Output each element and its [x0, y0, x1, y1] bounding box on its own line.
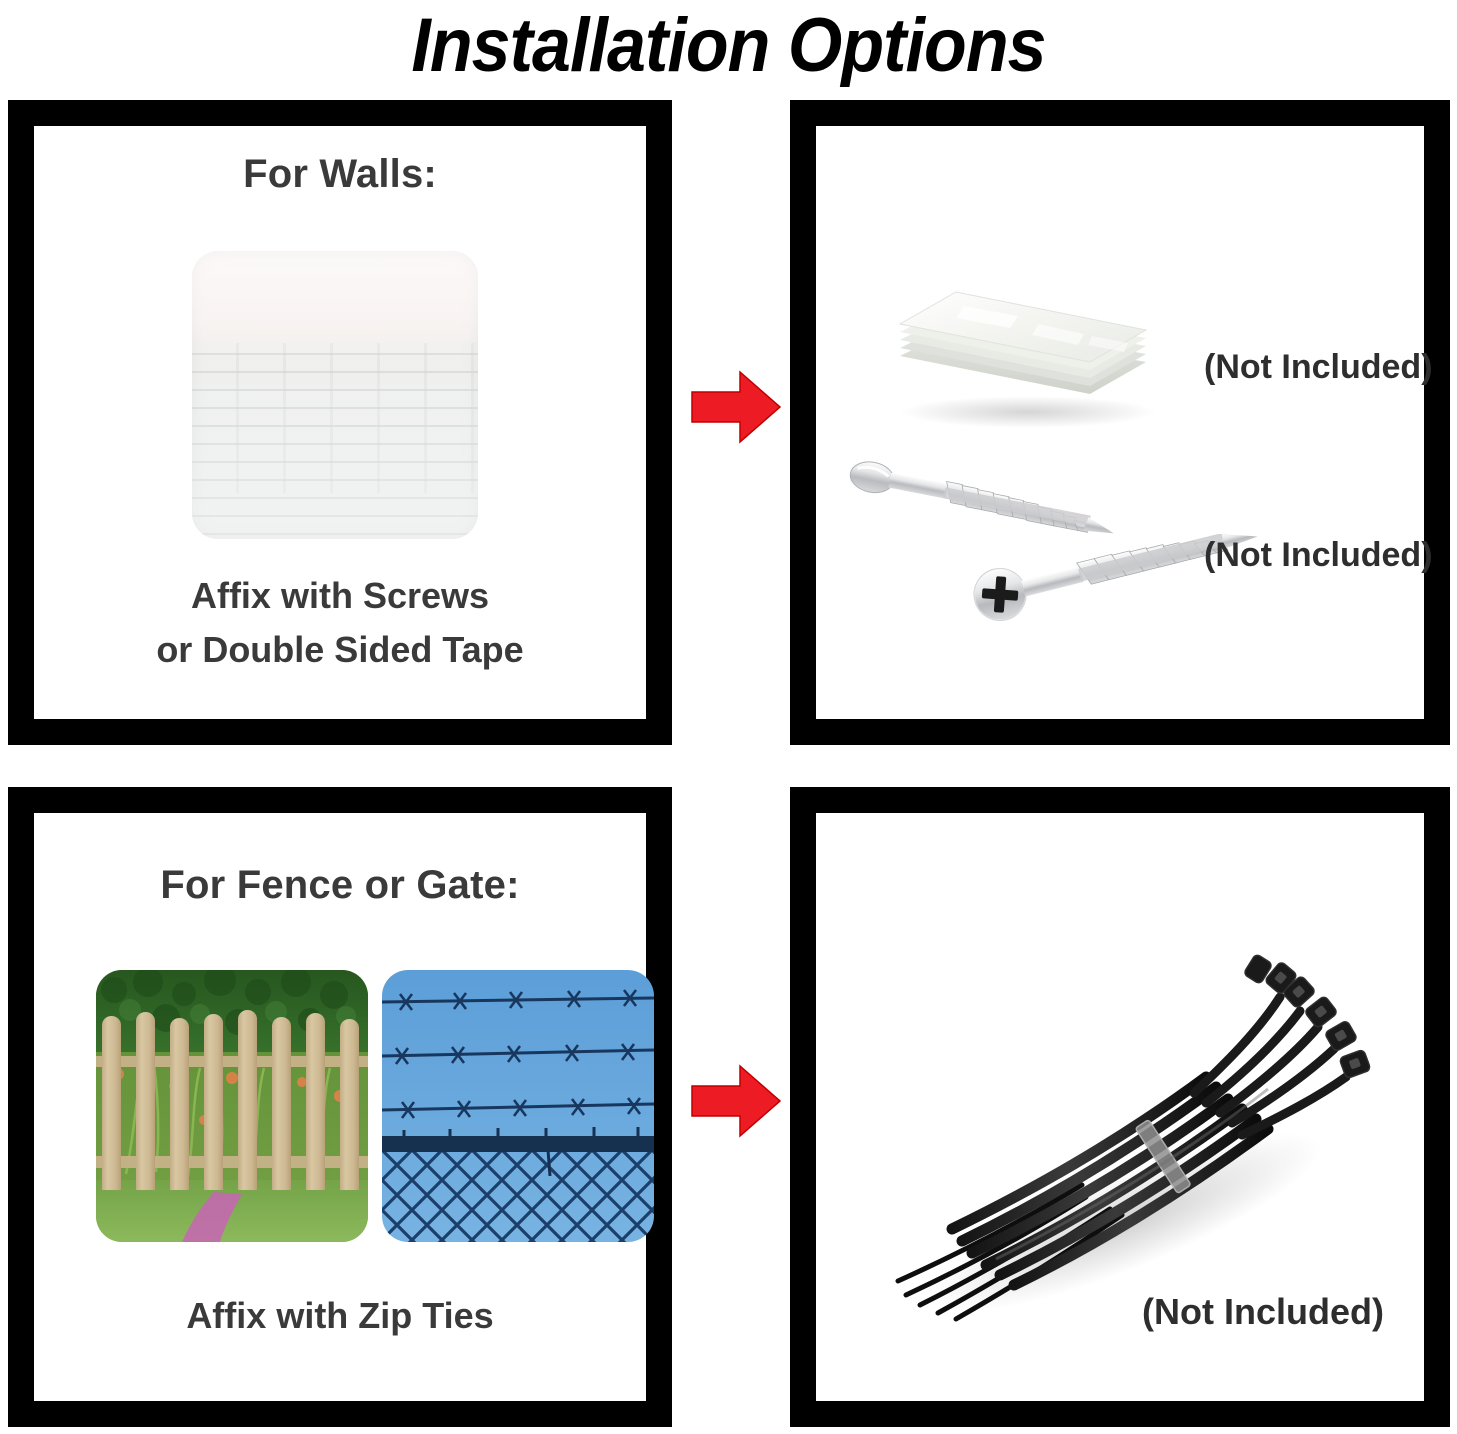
caption-line-1: Affix with Screws [34, 569, 646, 623]
screws-not-included-label: (Not Included) [1204, 536, 1433, 575]
wood-screw-image [846, 456, 1166, 540]
panel-wall-hardware-inner: (Not Included) [816, 126, 1424, 719]
page-title: Installation Options [58, 0, 1398, 94]
right-arrow-icon [690, 368, 782, 446]
chain-link-barbed-wire-fence-image [382, 970, 654, 1242]
panel-zip-ties: (Not Included) [790, 787, 1450, 1427]
heading-for-walls: For Walls: [34, 152, 646, 197]
panel-for-walls: For Walls: Affix with Screws or Double S… [8, 100, 672, 745]
tape-not-included-label: (Not Included) [1204, 348, 1433, 387]
panel-for-walls-inner: For Walls: Affix with Screws or Double S… [34, 126, 646, 719]
panel-wall-hardware: (Not Included) [790, 100, 1450, 745]
right-arrow-icon [690, 1062, 782, 1140]
caption-for-fence: Affix with Zip Ties [34, 1289, 646, 1343]
heading-for-fence-or-gate: For Fence or Gate: [34, 863, 646, 908]
double-sided-tape-image [878, 244, 1178, 430]
paint-wash-overlay [192, 251, 478, 539]
panel-for-fence-or-gate-inner: For Fence or Gate: [34, 813, 646, 1401]
caption-for-walls: Affix with Screws or Double Sided Tape [34, 569, 646, 677]
black-zip-ties-image [876, 923, 1376, 1343]
zip-ties-not-included-label: (Not Included) [1142, 1291, 1384, 1333]
panel-zip-ties-inner: (Not Included) [816, 813, 1424, 1401]
wooden-picket-fence-image [96, 970, 368, 1242]
panel-for-fence-or-gate: For Fence or Gate: [8, 787, 672, 1427]
white-brick-wall-image [192, 251, 478, 539]
caption-line-2: or Double Sided Tape [34, 623, 646, 677]
